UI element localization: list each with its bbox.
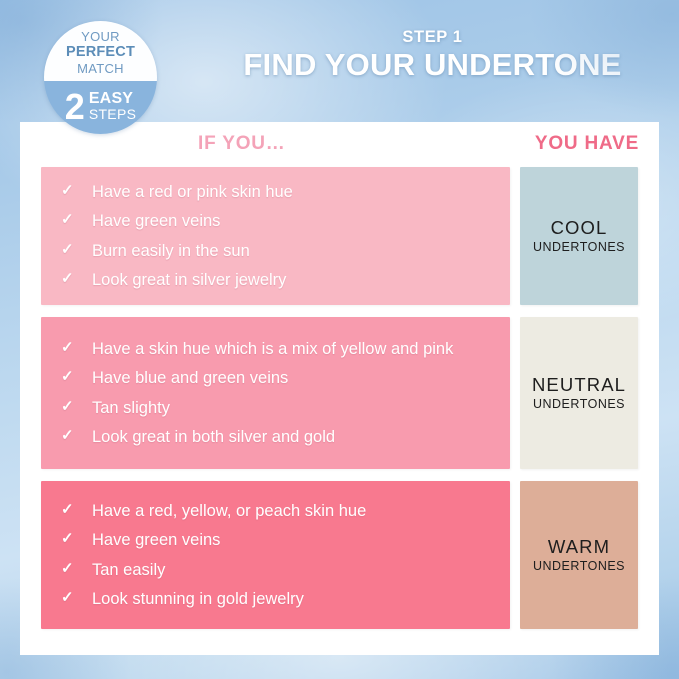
claim-item: ✓ Have blue and green veins <box>61 367 496 389</box>
claims-card-warm: ✓ Have a red, yellow, or peach skin hue … <box>41 481 510 629</box>
step-label: STEP 1 <box>205 28 660 46</box>
claim-item: ✓ Tan slighty <box>61 397 496 419</box>
undertone-name: NEUTRAL <box>532 374 626 395</box>
undertone-row-cool: ✓ Have a red or pink skin hue ✓ Have gre… <box>20 167 659 305</box>
claim-item: ✓ Have a red or pink skin hue <box>61 181 496 203</box>
claim-item: ✓ Have green veins <box>61 210 496 232</box>
perfect-match-badge: YOUR PERFECT MATCH 2 EASY STEPS <box>44 21 157 134</box>
badge-label-steps: STEPS <box>89 107 136 121</box>
claim-text: Have blue and green veins <box>92 367 496 389</box>
claim-item: ✓ Tan easily <box>61 559 496 581</box>
check-icon: ✓ <box>61 338 92 358</box>
claim-text: Look great in silver jewelry <box>92 269 496 291</box>
claim-item: ✓ Have a red, yellow, or peach skin hue <box>61 500 496 522</box>
check-icon: ✓ <box>61 397 92 417</box>
check-icon: ✓ <box>61 210 92 230</box>
check-icon: ✓ <box>61 500 92 520</box>
badge-line-your: YOUR <box>81 29 120 44</box>
undertone-name: WARM <box>548 536 610 557</box>
badge-steps-wrap: EASY STEPS <box>89 91 136 121</box>
check-icon: ✓ <box>61 529 92 549</box>
check-icon: ✓ <box>61 240 92 260</box>
check-icon: ✓ <box>61 426 92 446</box>
badge-line-perfect: PERFECT <box>66 44 135 61</box>
check-icon: ✓ <box>61 367 92 387</box>
page-header: STEP 1 FIND YOUR UNDERTONE <box>205 28 660 83</box>
claim-item: ✓ Look stunning in gold jewelry <box>61 588 496 610</box>
page-title: FIND YOUR UNDERTONE <box>205 48 660 83</box>
badge-step-count: 2 <box>65 90 85 123</box>
column-header-you-have: YOU HAVE <box>515 133 659 155</box>
claim-text: Tan easily <box>92 559 496 581</box>
claim-text: Burn easily in the sun <box>92 240 496 262</box>
column-headers: IF YOU… YOU HAVE <box>20 133 659 167</box>
check-icon: ✓ <box>61 559 92 579</box>
badge-top-half: YOUR PERFECT MATCH <box>44 21 157 81</box>
claim-text: Have green veins <box>92 210 496 232</box>
undertone-swatch-cool: COOL UNDERTONES <box>520 167 638 305</box>
undertone-sublabel: UNDERTONES <box>533 397 625 412</box>
undertone-rows: ✓ Have a red or pink skin hue ✓ Have gre… <box>20 167 659 629</box>
claim-text: Have a red or pink skin hue <box>92 181 496 203</box>
check-icon: ✓ <box>61 181 92 201</box>
undertone-sublabel: UNDERTONES <box>533 240 625 255</box>
claim-text: Look great in both silver and gold <box>92 426 496 448</box>
claim-item: ✓ Burn easily in the sun <box>61 240 496 262</box>
claim-text: Tan slighty <box>92 397 496 419</box>
badge-line-match: MATCH <box>77 61 124 76</box>
undertone-sublabel: UNDERTONES <box>533 559 625 574</box>
claim-text: Have green veins <box>92 529 496 551</box>
badge-label-easy: EASY <box>89 91 136 107</box>
check-icon: ✓ <box>61 269 92 289</box>
undertone-row-neutral: ✓ Have a skin hue which is a mix of yell… <box>20 317 659 469</box>
claims-card-neutral: ✓ Have a skin hue which is a mix of yell… <box>41 317 510 469</box>
column-header-if-you: IF YOU… <box>198 133 286 155</box>
claim-item: ✓ Look great in silver jewelry <box>61 269 496 291</box>
check-icon: ✓ <box>61 588 92 608</box>
badge-bottom-half: 2 EASY STEPS <box>44 81 157 134</box>
undertone-swatch-warm: WARM UNDERTONES <box>520 481 638 629</box>
undertone-name: COOL <box>551 217 608 238</box>
claims-card-cool: ✓ Have a red or pink skin hue ✓ Have gre… <box>41 167 510 305</box>
infographic-canvas: STEP 1 FIND YOUR UNDERTONE YOUR PERFECT … <box>0 0 679 679</box>
undertone-row-warm: ✓ Have a red, yellow, or peach skin hue … <box>20 481 659 629</box>
claim-text: Look stunning in gold jewelry <box>92 588 496 610</box>
claim-item: ✓ Look great in both silver and gold <box>61 426 496 448</box>
claim-item: ✓ Have a skin hue which is a mix of yell… <box>61 338 496 360</box>
claim-item: ✓ Have green veins <box>61 529 496 551</box>
claim-text: Have a red, yellow, or peach skin hue <box>92 500 496 522</box>
undertone-swatch-neutral: NEUTRAL UNDERTONES <box>520 317 638 469</box>
claim-text: Have a skin hue which is a mix of yellow… <box>92 338 496 360</box>
